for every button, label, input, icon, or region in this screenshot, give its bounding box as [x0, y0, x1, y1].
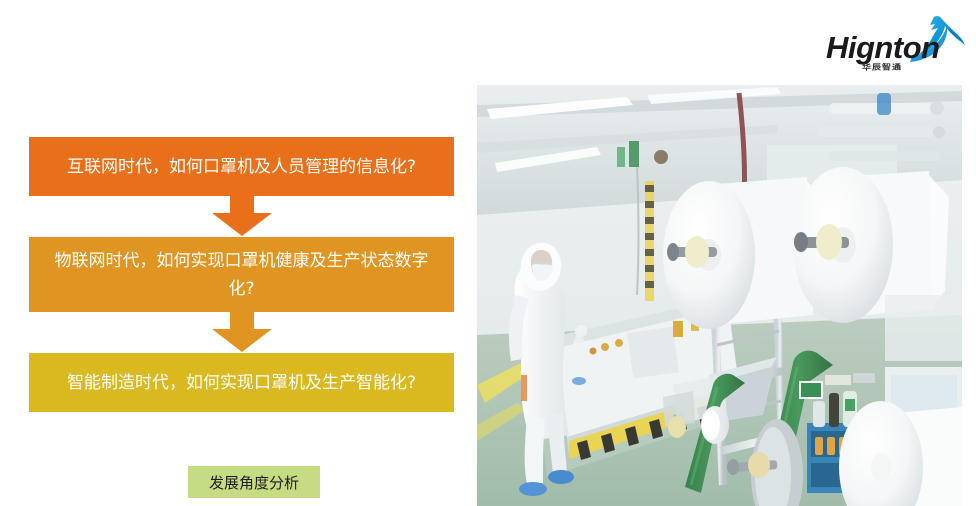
analysis-tag-label: 发展角度分析: [209, 472, 299, 493]
flow-step-internet[interactable]: 互联网时代，如何口罩机及人员管理的信息化?: [29, 137, 454, 196]
flow-step-internet-label: 互联网时代，如何口罩机及人员管理的信息化?: [67, 153, 416, 181]
flow-step-smart-manufacturing-label: 智能制造时代，如何实现口罩机及生产智能化?: [67, 369, 416, 397]
logo-wordmark: Hignton: [826, 32, 940, 63]
slide-canvas: Hignton 华辰智通 互联网时代，如何口罩机及人员管理的信息化? 物联网时代…: [0, 0, 976, 506]
flow-connector-1: [29, 196, 454, 237]
flow-connector-2: [29, 312, 454, 353]
logo-subtext: 华辰智通: [862, 61, 902, 72]
down-arrow-icon: [210, 196, 274, 237]
factory-photo: [477, 85, 962, 506]
flow-step-smart-manufacturing[interactable]: 智能制造时代，如何实现口罩机及生产智能化?: [29, 353, 454, 412]
down-arrow-icon: [210, 312, 274, 353]
flow-step-iot[interactable]: 物联网时代，如何实现口罩机健康及生产状态数字化?: [29, 237, 454, 312]
flow-step-iot-label: 物联网时代，如何实现口罩机健康及生产状态数字化?: [47, 247, 436, 303]
analysis-tag[interactable]: 发展角度分析: [188, 466, 320, 498]
development-flow: 互联网时代，如何口罩机及人员管理的信息化? 物联网时代，如何实现口罩机健康及生产…: [29, 137, 454, 412]
company-logo: Hignton 华辰智通: [826, 14, 966, 76]
